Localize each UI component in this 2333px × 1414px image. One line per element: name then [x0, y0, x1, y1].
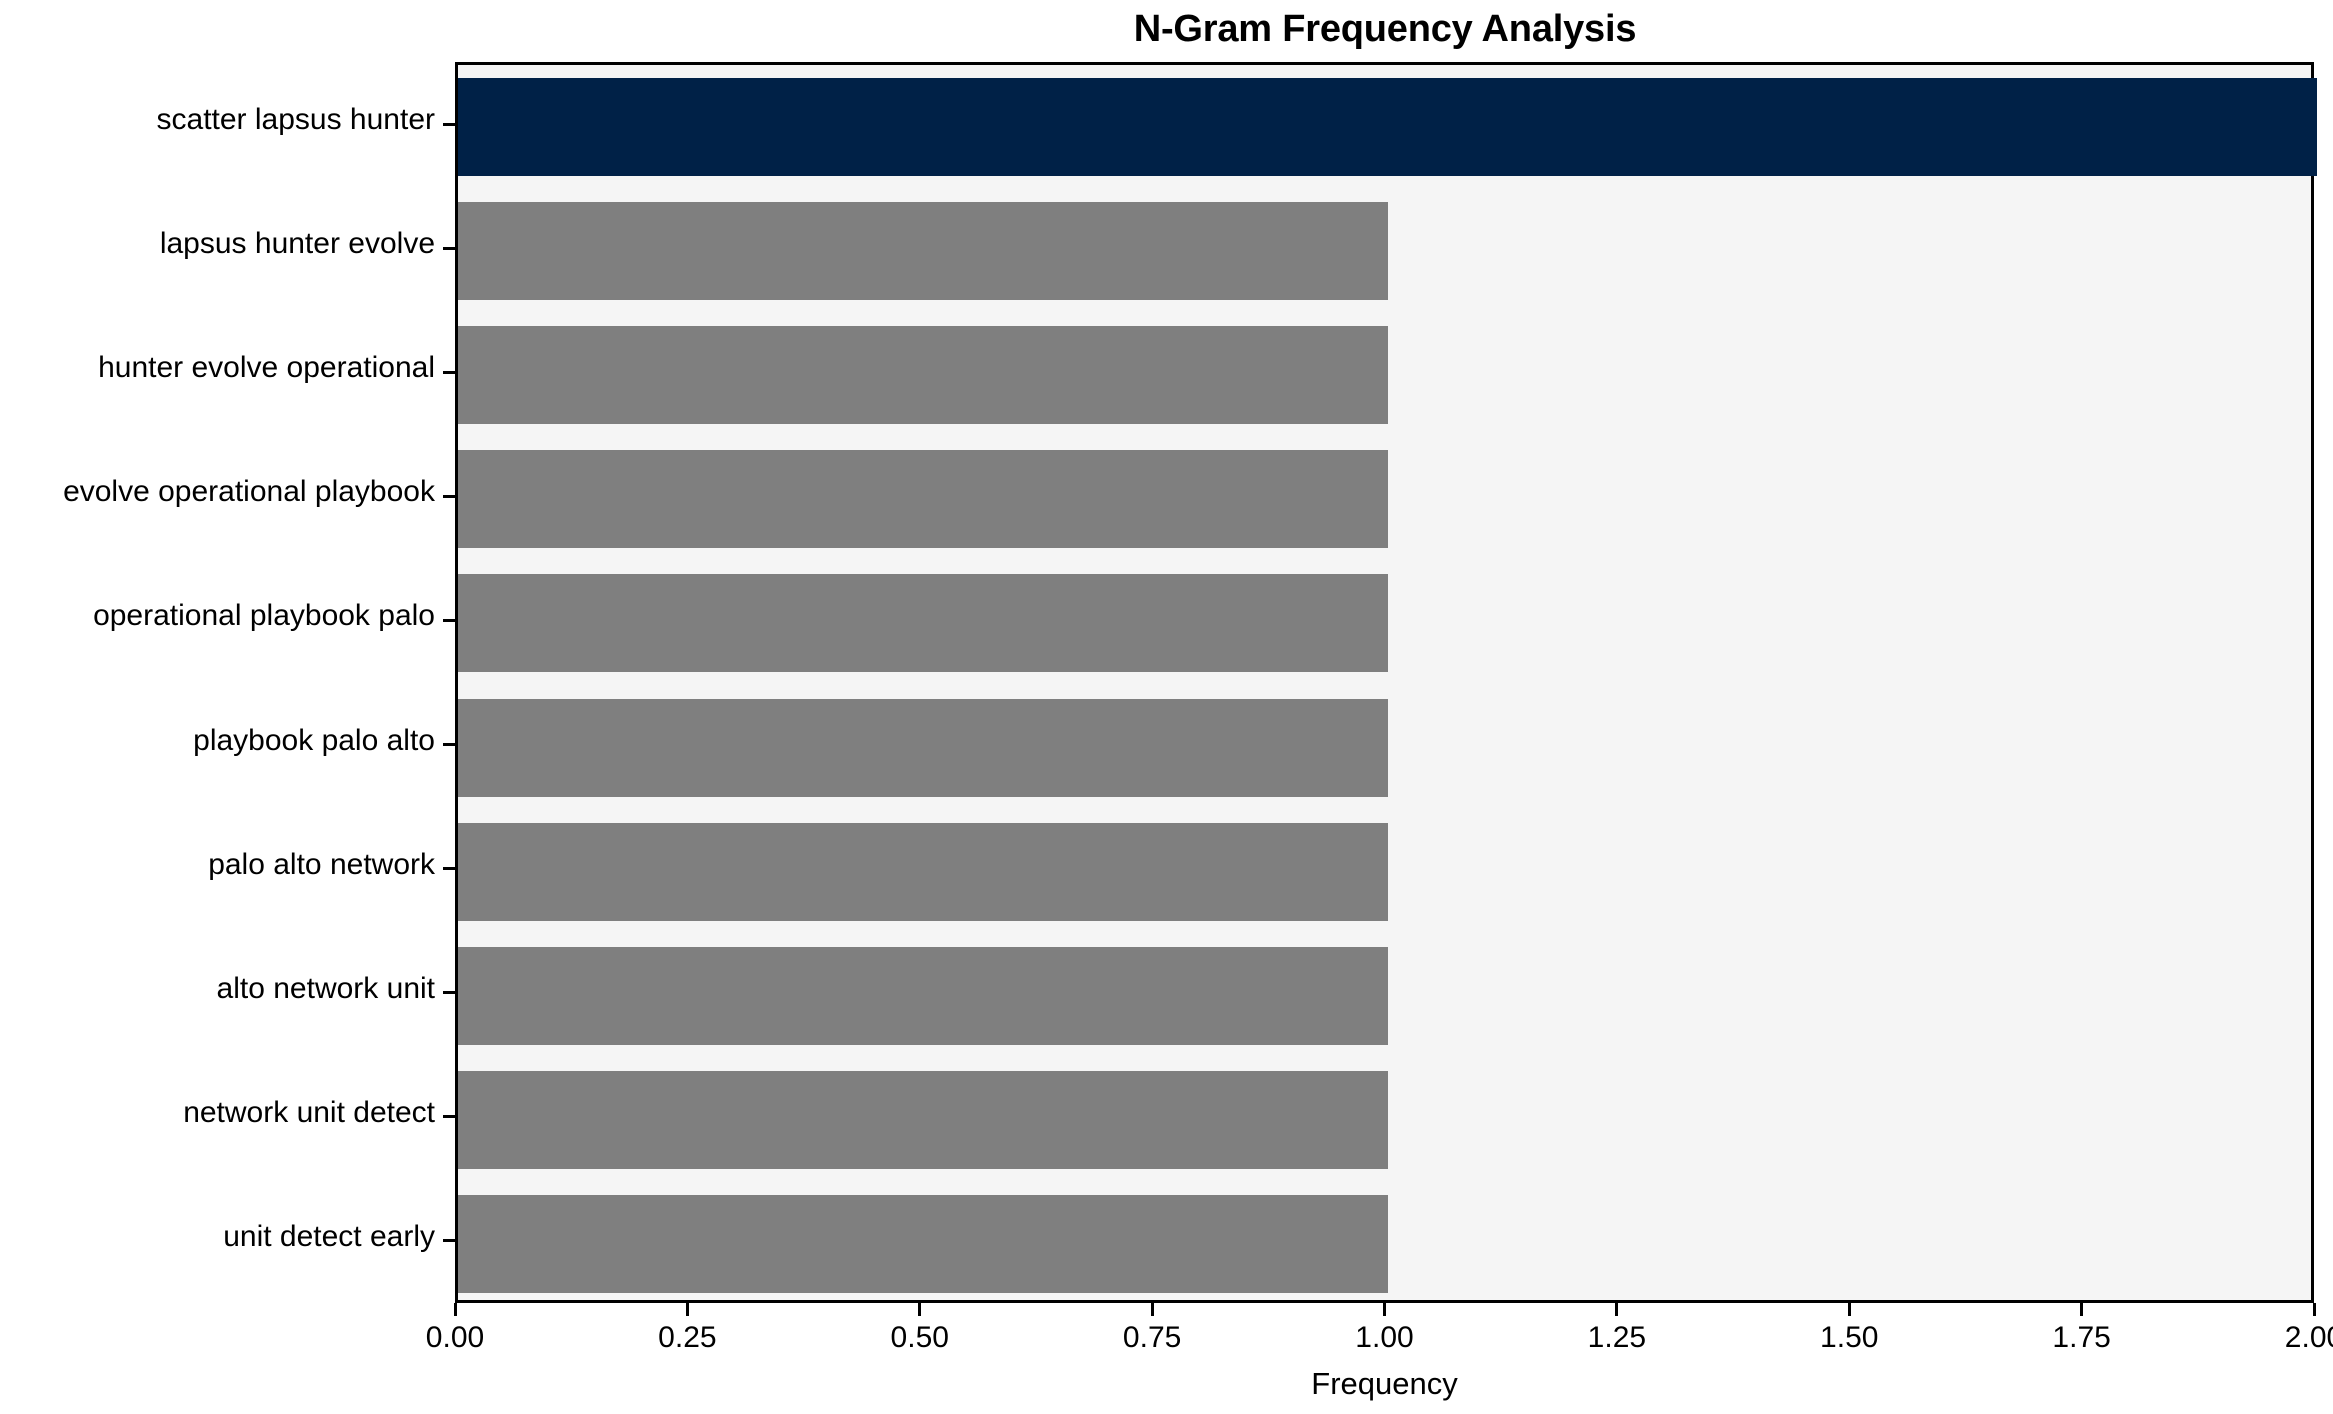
- bar-row: [458, 202, 2311, 300]
- bar-row: [458, 823, 2311, 921]
- x-tick-label: 2.00: [2285, 1321, 2333, 1355]
- y-tick-label: palo alto network: [208, 848, 435, 882]
- bar[interactable]: [458, 947, 1388, 1045]
- x-tick-label: 1.50: [1820, 1321, 1878, 1355]
- x-tick-label: 0.50: [891, 1321, 949, 1355]
- y-axis: scatter lapsus hunterlapsus hunter evolv…: [0, 62, 455, 1303]
- x-tick-label: 1.75: [2052, 1321, 2110, 1355]
- x-tick-mark: [454, 1303, 457, 1316]
- figure-canvas: N-Gram Frequency Analysis scatter lapsus…: [0, 0, 2333, 1414]
- bar[interactable]: [458, 1195, 1388, 1293]
- bar-row: [458, 947, 2311, 1045]
- y-tick-label: hunter evolve operational: [98, 351, 435, 385]
- chart-title: N-Gram Frequency Analysis: [455, 2, 2315, 56]
- x-tick-mark: [2313, 1303, 2316, 1316]
- bar[interactable]: [458, 699, 1388, 797]
- y-tick-label: scatter lapsus hunter: [157, 103, 435, 137]
- y-tick-mark: [443, 1239, 455, 1242]
- x-tick-mark: [1615, 1303, 1618, 1316]
- y-tick-label: network unit detect: [183, 1096, 435, 1130]
- x-tick-mark: [918, 1303, 921, 1316]
- bar[interactable]: [458, 326, 1388, 424]
- y-tick-mark: [443, 743, 455, 746]
- y-tick-mark: [443, 247, 455, 250]
- bar[interactable]: [458, 1071, 1388, 1169]
- bars-layer: [458, 65, 2311, 1300]
- y-tick-label: operational playbook palo: [93, 599, 435, 633]
- bar[interactable]: [458, 202, 1388, 300]
- y-tick-label: evolve operational playbook: [63, 475, 435, 509]
- y-tick-label: playbook palo alto: [193, 724, 435, 758]
- bar-row: [458, 326, 2311, 424]
- x-axis-label: Frequency: [455, 1366, 2314, 1402]
- y-tick-label: alto network unit: [217, 972, 435, 1006]
- bar[interactable]: [458, 574, 1388, 672]
- bar-row: [458, 1195, 2311, 1293]
- bar-row: [458, 1071, 2311, 1169]
- x-tick-label: 0.00: [426, 1321, 484, 1355]
- bar[interactable]: [458, 78, 2317, 176]
- y-tick-mark: [443, 991, 455, 994]
- bar-row: [458, 574, 2311, 672]
- bar-row: [458, 78, 2311, 176]
- x-tick-label: 1.00: [1355, 1321, 1413, 1355]
- x-axis: Frequency 0.000.250.500.751.001.251.501.…: [455, 1303, 2314, 1413]
- bar[interactable]: [458, 450, 1388, 548]
- bar-row: [458, 699, 2311, 797]
- y-tick-mark: [443, 1115, 455, 1118]
- y-tick-mark: [443, 619, 455, 622]
- y-tick-mark: [443, 867, 455, 870]
- x-tick-label: 0.25: [658, 1321, 716, 1355]
- bar-row: [458, 450, 2311, 548]
- y-tick-mark: [443, 123, 455, 126]
- x-tick-mark: [2080, 1303, 2083, 1316]
- y-tick-label: unit detect early: [223, 1220, 435, 1254]
- x-tick-mark: [686, 1303, 689, 1316]
- x-tick-mark: [1383, 1303, 1386, 1316]
- x-tick-label: 0.75: [1123, 1321, 1181, 1355]
- x-tick-mark: [1151, 1303, 1154, 1316]
- x-tick-label: 1.25: [1588, 1321, 1646, 1355]
- plot-area: [455, 62, 2314, 1303]
- y-tick-label: lapsus hunter evolve: [160, 227, 435, 261]
- bar[interactable]: [458, 823, 1388, 921]
- y-tick-mark: [443, 371, 455, 374]
- x-tick-mark: [1848, 1303, 1851, 1316]
- y-tick-mark: [443, 495, 455, 498]
